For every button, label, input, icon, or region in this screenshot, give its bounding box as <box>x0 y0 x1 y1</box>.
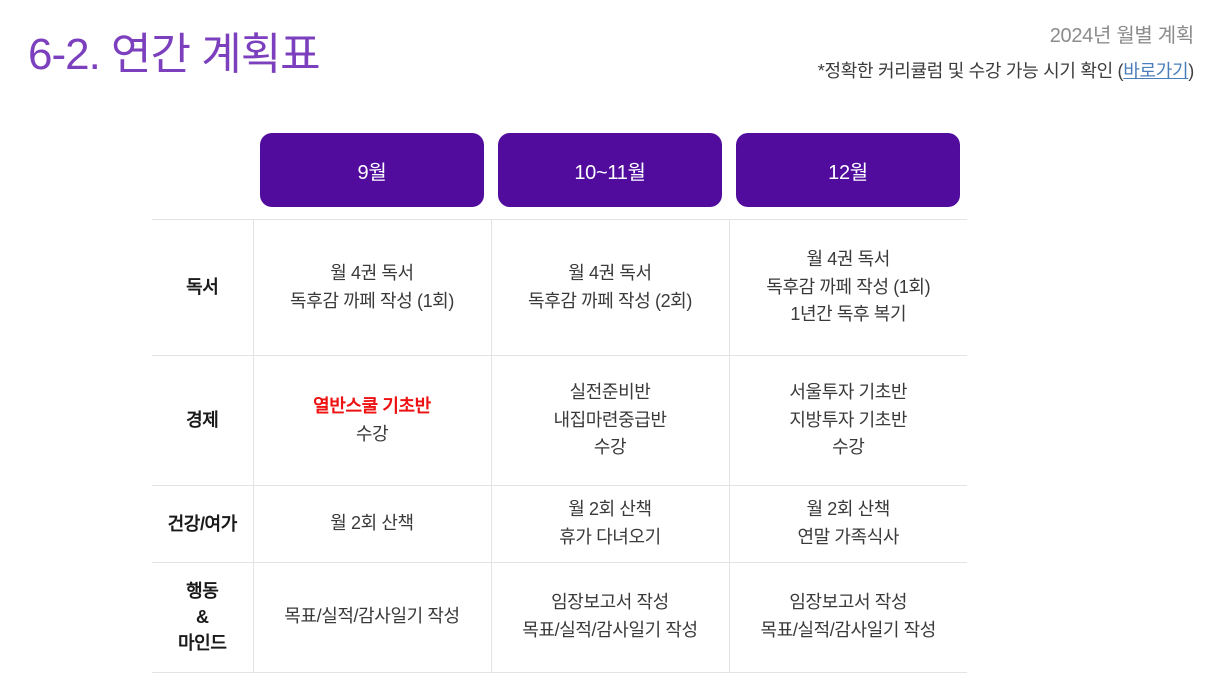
table-row: 독서 월 4권 독서독후감 까페 작성 (1회) 월 4권 독서독후감 까페 작… <box>152 220 967 356</box>
month-tab-bar: 9월 10~11월 12월 <box>152 133 967 207</box>
cell-line: 연말 가족식사 <box>736 524 962 552</box>
annual-plan-table-body: 독서 월 4권 독서독후감 까페 작성 (1회) 월 4권 독서독후감 까페 작… <box>152 220 967 673</box>
cell-line: 내집마련중급반 <box>498 407 723 435</box>
cell-0-1: 월 4권 독서독후감 까페 작성 (2회) <box>491 220 729 356</box>
cell-line: 열반스쿨 기초반 <box>260 393 485 421</box>
cell-line: 수강 <box>736 434 962 462</box>
annual-plan-page: 6-2. 연간 계획표 2024년 월별 계획 *정확한 커리큘럼 및 수강 가… <box>0 0 1216 684</box>
cell-line: 임장보고서 작성 <box>736 589 962 617</box>
row-label-3: 행동&마인드 <box>152 562 253 672</box>
cell-line: 목표/실적/감사일기 작성 <box>498 617 723 645</box>
cell-line: 1년간 독후 복기 <box>736 301 962 329</box>
cell-1-1: 실전준비반내집마련중급반수강 <box>491 356 729 486</box>
cell-line: 월 4권 독서 <box>260 260 485 288</box>
cell-line: 지방투자 기초반 <box>736 407 962 435</box>
row-label-2: 건강/여가 <box>152 486 253 563</box>
row-label-1: 경제 <box>152 356 253 486</box>
table-row: 경제 열반스쿨 기초반수강 실전준비반내집마련중급반수강 서울투자 기초반지방투… <box>152 356 967 486</box>
cell-line: 월 2회 산책 <box>498 496 723 524</box>
page-title: 6-2. 연간 계획표 <box>28 18 320 82</box>
curriculum-note: *정확한 커리큘럼 및 수강 가능 시기 확인 (바로가기) <box>818 61 1194 83</box>
cell-3-0: 목표/실적/감사일기 작성 <box>253 562 491 672</box>
cell-line: 실전준비반 <box>498 379 723 407</box>
cell-1-2: 서울투자 기초반지방투자 기초반수강 <box>729 356 967 486</box>
row-label-line: 독서 <box>158 274 247 300</box>
row-label-line: & <box>158 604 247 630</box>
tab-slot-0: 9월 <box>253 133 491 207</box>
cell-line: 목표/실적/감사일기 작성 <box>736 617 962 645</box>
cell-1-0: 열반스쿨 기초반수강 <box>253 356 491 486</box>
cell-0-0: 월 4권 독서독후감 까페 작성 (1회) <box>253 220 491 356</box>
tab-bar-spacer <box>152 133 253 207</box>
cell-2-2: 월 2회 산책연말 가족식사 <box>729 486 967 563</box>
cell-line: 임장보고서 작성 <box>498 589 723 617</box>
cell-line: 월 2회 산책 <box>736 496 962 524</box>
cell-2-0: 월 2회 산책 <box>253 486 491 563</box>
cell-line: 휴가 다녀오기 <box>498 524 723 552</box>
cell-line: 독후감 까페 작성 (1회) <box>260 288 485 316</box>
cell-line: 목표/실적/감사일기 작성 <box>260 603 485 631</box>
cell-line: 수강 <box>260 421 485 449</box>
cell-line: 수강 <box>498 434 723 462</box>
cell-line: 서울투자 기초반 <box>736 379 962 407</box>
cell-line: 월 4권 독서 <box>498 260 723 288</box>
cell-3-2: 임장보고서 작성목표/실적/감사일기 작성 <box>729 562 967 672</box>
curriculum-note-prefix: *정확한 커리큘럼 및 수강 가능 시기 확인 ( <box>818 61 1123 81</box>
row-label-line: 경제 <box>158 407 247 433</box>
tab-month-1[interactable]: 9월 <box>260 133 484 207</box>
cell-line: 월 4권 독서 <box>736 246 962 274</box>
subtitle: 2024년 월별 계획 <box>818 24 1194 48</box>
row-label-line: 마인드 <box>158 630 247 656</box>
row-label-line: 행동 <box>158 578 247 604</box>
curriculum-link[interactable]: 바로가기 <box>1123 61 1188 81</box>
tab-slot-1: 10~11월 <box>491 133 729 207</box>
header-right-block: 2024년 월별 계획 *정확한 커리큘럼 및 수강 가능 시기 확인 (바로가… <box>818 24 1194 83</box>
table-row: 건강/여가 월 2회 산책 월 2회 산책휴가 다녀오기 월 2회 산책연말 가… <box>152 486 967 563</box>
tab-slot-2: 12월 <box>729 133 967 207</box>
cell-0-2: 월 4권 독서독후감 까페 작성 (1회)1년간 독후 복기 <box>729 220 967 356</box>
cell-line: 독후감 까페 작성 (2회) <box>498 288 723 316</box>
tab-month-3[interactable]: 12월 <box>736 133 960 207</box>
annual-plan-table: 독서 월 4권 독서독후감 까페 작성 (1회) 월 4권 독서독후감 까페 작… <box>152 219 967 673</box>
cell-line: 월 2회 산책 <box>260 510 485 538</box>
table-row: 행동&마인드 목표/실적/감사일기 작성 임장보고서 작성목표/실적/감사일기 … <box>152 562 967 672</box>
cell-2-1: 월 2회 산책휴가 다녀오기 <box>491 486 729 563</box>
row-label-0: 독서 <box>152 220 253 356</box>
curriculum-note-suffix: ) <box>1188 61 1194 81</box>
cell-3-1: 임장보고서 작성목표/실적/감사일기 작성 <box>491 562 729 672</box>
tab-month-2[interactable]: 10~11월 <box>498 133 722 207</box>
cell-line: 독후감 까페 작성 (1회) <box>736 274 962 302</box>
row-label-line: 건강/여가 <box>158 511 247 537</box>
